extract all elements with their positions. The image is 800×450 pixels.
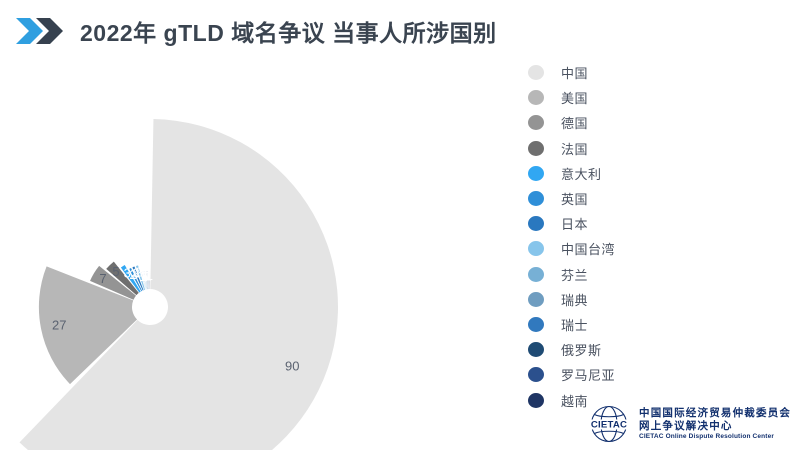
- legend-item[interactable]: 俄罗斯: [528, 337, 728, 362]
- page-title: 2022年 gTLD 域名争议 当事人所涉国别: [80, 14, 497, 48]
- page-header: 2022年 gTLD 域名争议 当事人所涉国别: [0, 0, 800, 62]
- legend-item[interactable]: 瑞士: [528, 312, 728, 337]
- legend-item-label: 美国: [561, 88, 588, 107]
- legend-item[interactable]: 英国: [528, 186, 728, 211]
- legend-color-swatch: [528, 90, 544, 105]
- legend-item[interactable]: 中国台湾: [528, 236, 728, 261]
- legend-item[interactable]: 法国: [528, 136, 728, 161]
- legend-item-label: 法国: [561, 139, 588, 158]
- org-name-line2: 网上争议解决中心: [639, 420, 791, 432]
- pie-slice-value-label: 5: [112, 264, 119, 279]
- legend-item-label: 英国: [561, 189, 588, 208]
- legend-item[interactable]: 瑞典: [528, 287, 728, 312]
- legend-color-swatch: [528, 141, 544, 156]
- chart-legend: 中国美国德国法国意大利英国日本中国台湾芬兰瑞典瑞士俄罗斯罗马尼亚越南: [528, 60, 728, 413]
- cietac-logo-text: 中国国际经济贸易仲裁委员会 网上争议解决中心 CIETAC Online Dis…: [639, 407, 791, 440]
- legend-color-swatch: [528, 191, 544, 206]
- legend-item-label: 意大利: [561, 164, 602, 183]
- svg-text:CIETAC: CIETAC: [591, 420, 627, 431]
- legend-item-label: 瑞士: [561, 315, 588, 334]
- legend-item-label: 芬兰: [561, 265, 588, 284]
- legend-item[interactable]: 中国: [528, 60, 728, 85]
- legend-item[interactable]: 意大利: [528, 161, 728, 186]
- org-name-line1: 中国国际经济贸易仲裁委员会: [639, 407, 791, 419]
- legend-color-swatch: [528, 342, 544, 357]
- legend-color-swatch: [528, 292, 544, 307]
- legend-color-swatch: [528, 115, 544, 130]
- cietac-globe-icon: CIETAC: [586, 402, 632, 446]
- pie-slice-value-label: 7: [99, 271, 106, 286]
- legend-item-label: 瑞典: [561, 290, 588, 309]
- legend-item-label: 越南: [561, 391, 588, 410]
- legend-item-label: 中国台湾: [561, 239, 615, 258]
- cietac-footer-logo: CIETAC 中国国际经济贸易仲裁委员会 网上争议解决中心 CIETAC Onl…: [586, 402, 791, 446]
- legend-item-label: 中国: [561, 63, 588, 82]
- legend-item[interactable]: 罗马尼亚: [528, 362, 728, 387]
- legend-item-label: 日本: [561, 214, 588, 233]
- pie-slice-value-label: 90: [285, 358, 299, 373]
- legend-item[interactable]: 芬兰: [528, 262, 728, 287]
- legend-color-swatch: [528, 317, 544, 332]
- double-chevron-icon: [14, 14, 66, 48]
- legend-color-swatch: [528, 367, 544, 382]
- legend-item[interactable]: 美国: [528, 85, 728, 110]
- legend-item[interactable]: 日本: [528, 211, 728, 236]
- legend-item-label: 俄罗斯: [561, 340, 602, 359]
- legend-color-swatch: [528, 241, 544, 256]
- rose-chart-svg: 9027753222111111: [0, 62, 520, 450]
- legend-color-swatch: [528, 267, 544, 282]
- legend-item-label: 罗马尼亚: [561, 365, 615, 384]
- org-name-english: CIETAC Online Dispute Resolution Center: [639, 433, 791, 441]
- legend-color-swatch: [528, 216, 544, 231]
- legend-item-label: 德国: [561, 113, 588, 132]
- legend-item[interactable]: 德国: [528, 110, 728, 135]
- legend-color-swatch: [528, 65, 544, 80]
- rose-chart: 9027753222111111: [0, 62, 520, 450]
- legend-color-swatch: [528, 393, 544, 408]
- pie-slice-value-label: 1: [146, 268, 153, 283]
- legend-color-swatch: [528, 166, 544, 181]
- pie-slice-value-label: 27: [52, 318, 66, 333]
